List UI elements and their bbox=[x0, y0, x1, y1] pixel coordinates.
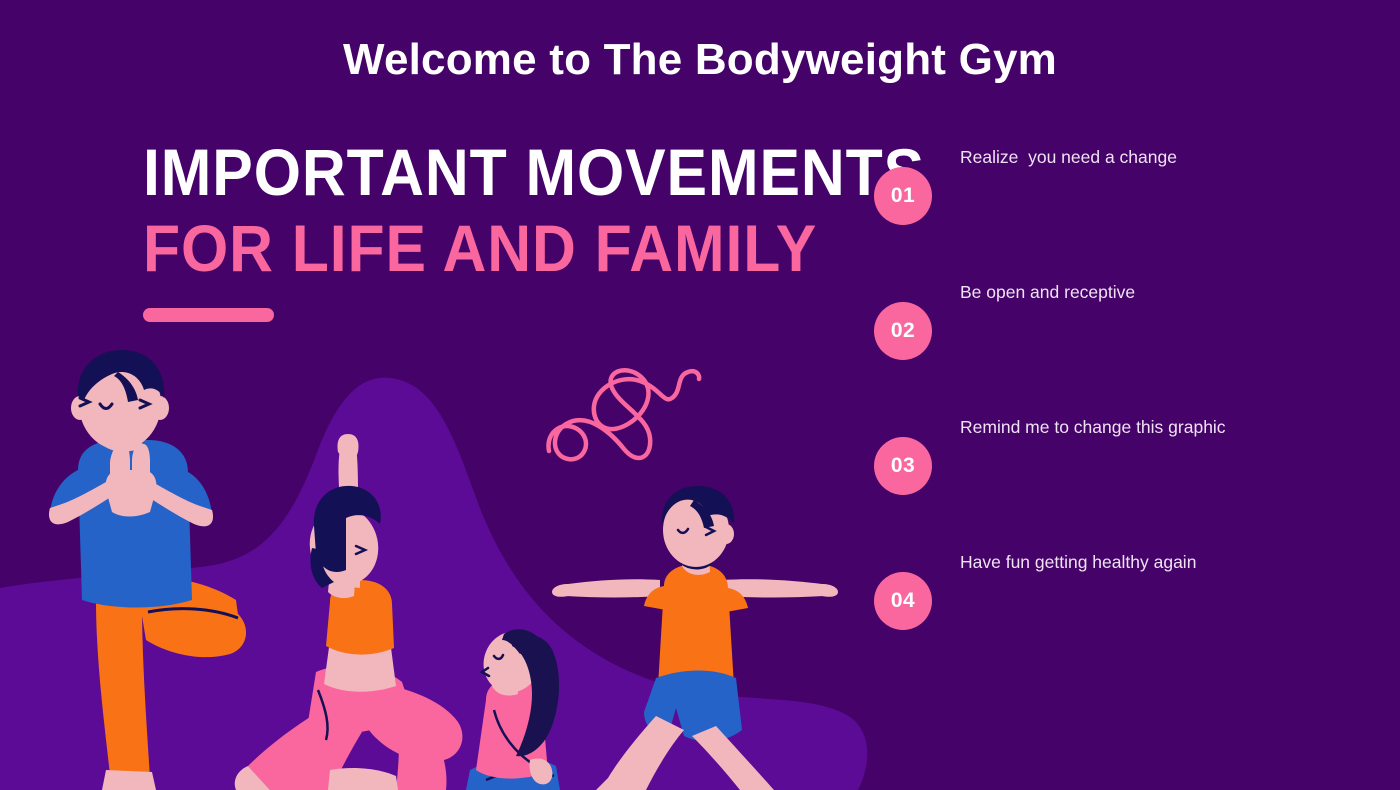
headline-line-1: IMPORTANT MOVEMENTS bbox=[143, 140, 925, 204]
headline-underline-bar bbox=[143, 308, 274, 322]
slide-canvas: Welcome to The Bodyweight Gym IMPORTANT … bbox=[0, 0, 1400, 790]
list-item[interactable]: 03 Remind me to change this graphic bbox=[874, 412, 1374, 547]
step-label: Be open and receptive bbox=[960, 281, 1135, 305]
step-number-badge: 03 bbox=[874, 437, 932, 495]
list-item[interactable]: 01 Realize you need a change bbox=[874, 142, 1374, 277]
step-number-badge: 01 bbox=[874, 167, 932, 225]
step-label: Have fun getting healthy again bbox=[960, 551, 1196, 575]
headline-line-2: FOR LIFE AND FAMILY bbox=[143, 216, 925, 280]
step-label: Remind me to change this graphic bbox=[960, 416, 1226, 440]
page-title: Welcome to The Bodyweight Gym bbox=[0, 36, 1400, 84]
list-item[interactable]: 04 Have fun getting healthy again bbox=[874, 547, 1374, 682]
step-label: Realize you need a change bbox=[960, 146, 1177, 170]
steps-list: 01 Realize you need a change 02 Be open … bbox=[874, 142, 1374, 682]
headline-block: IMPORTANT MOVEMENTS FOR LIFE AND FAMILY bbox=[143, 140, 993, 322]
list-item[interactable]: 02 Be open and receptive bbox=[874, 277, 1374, 412]
step-number-badge: 02 bbox=[874, 302, 932, 360]
step-number-badge: 04 bbox=[874, 572, 932, 630]
